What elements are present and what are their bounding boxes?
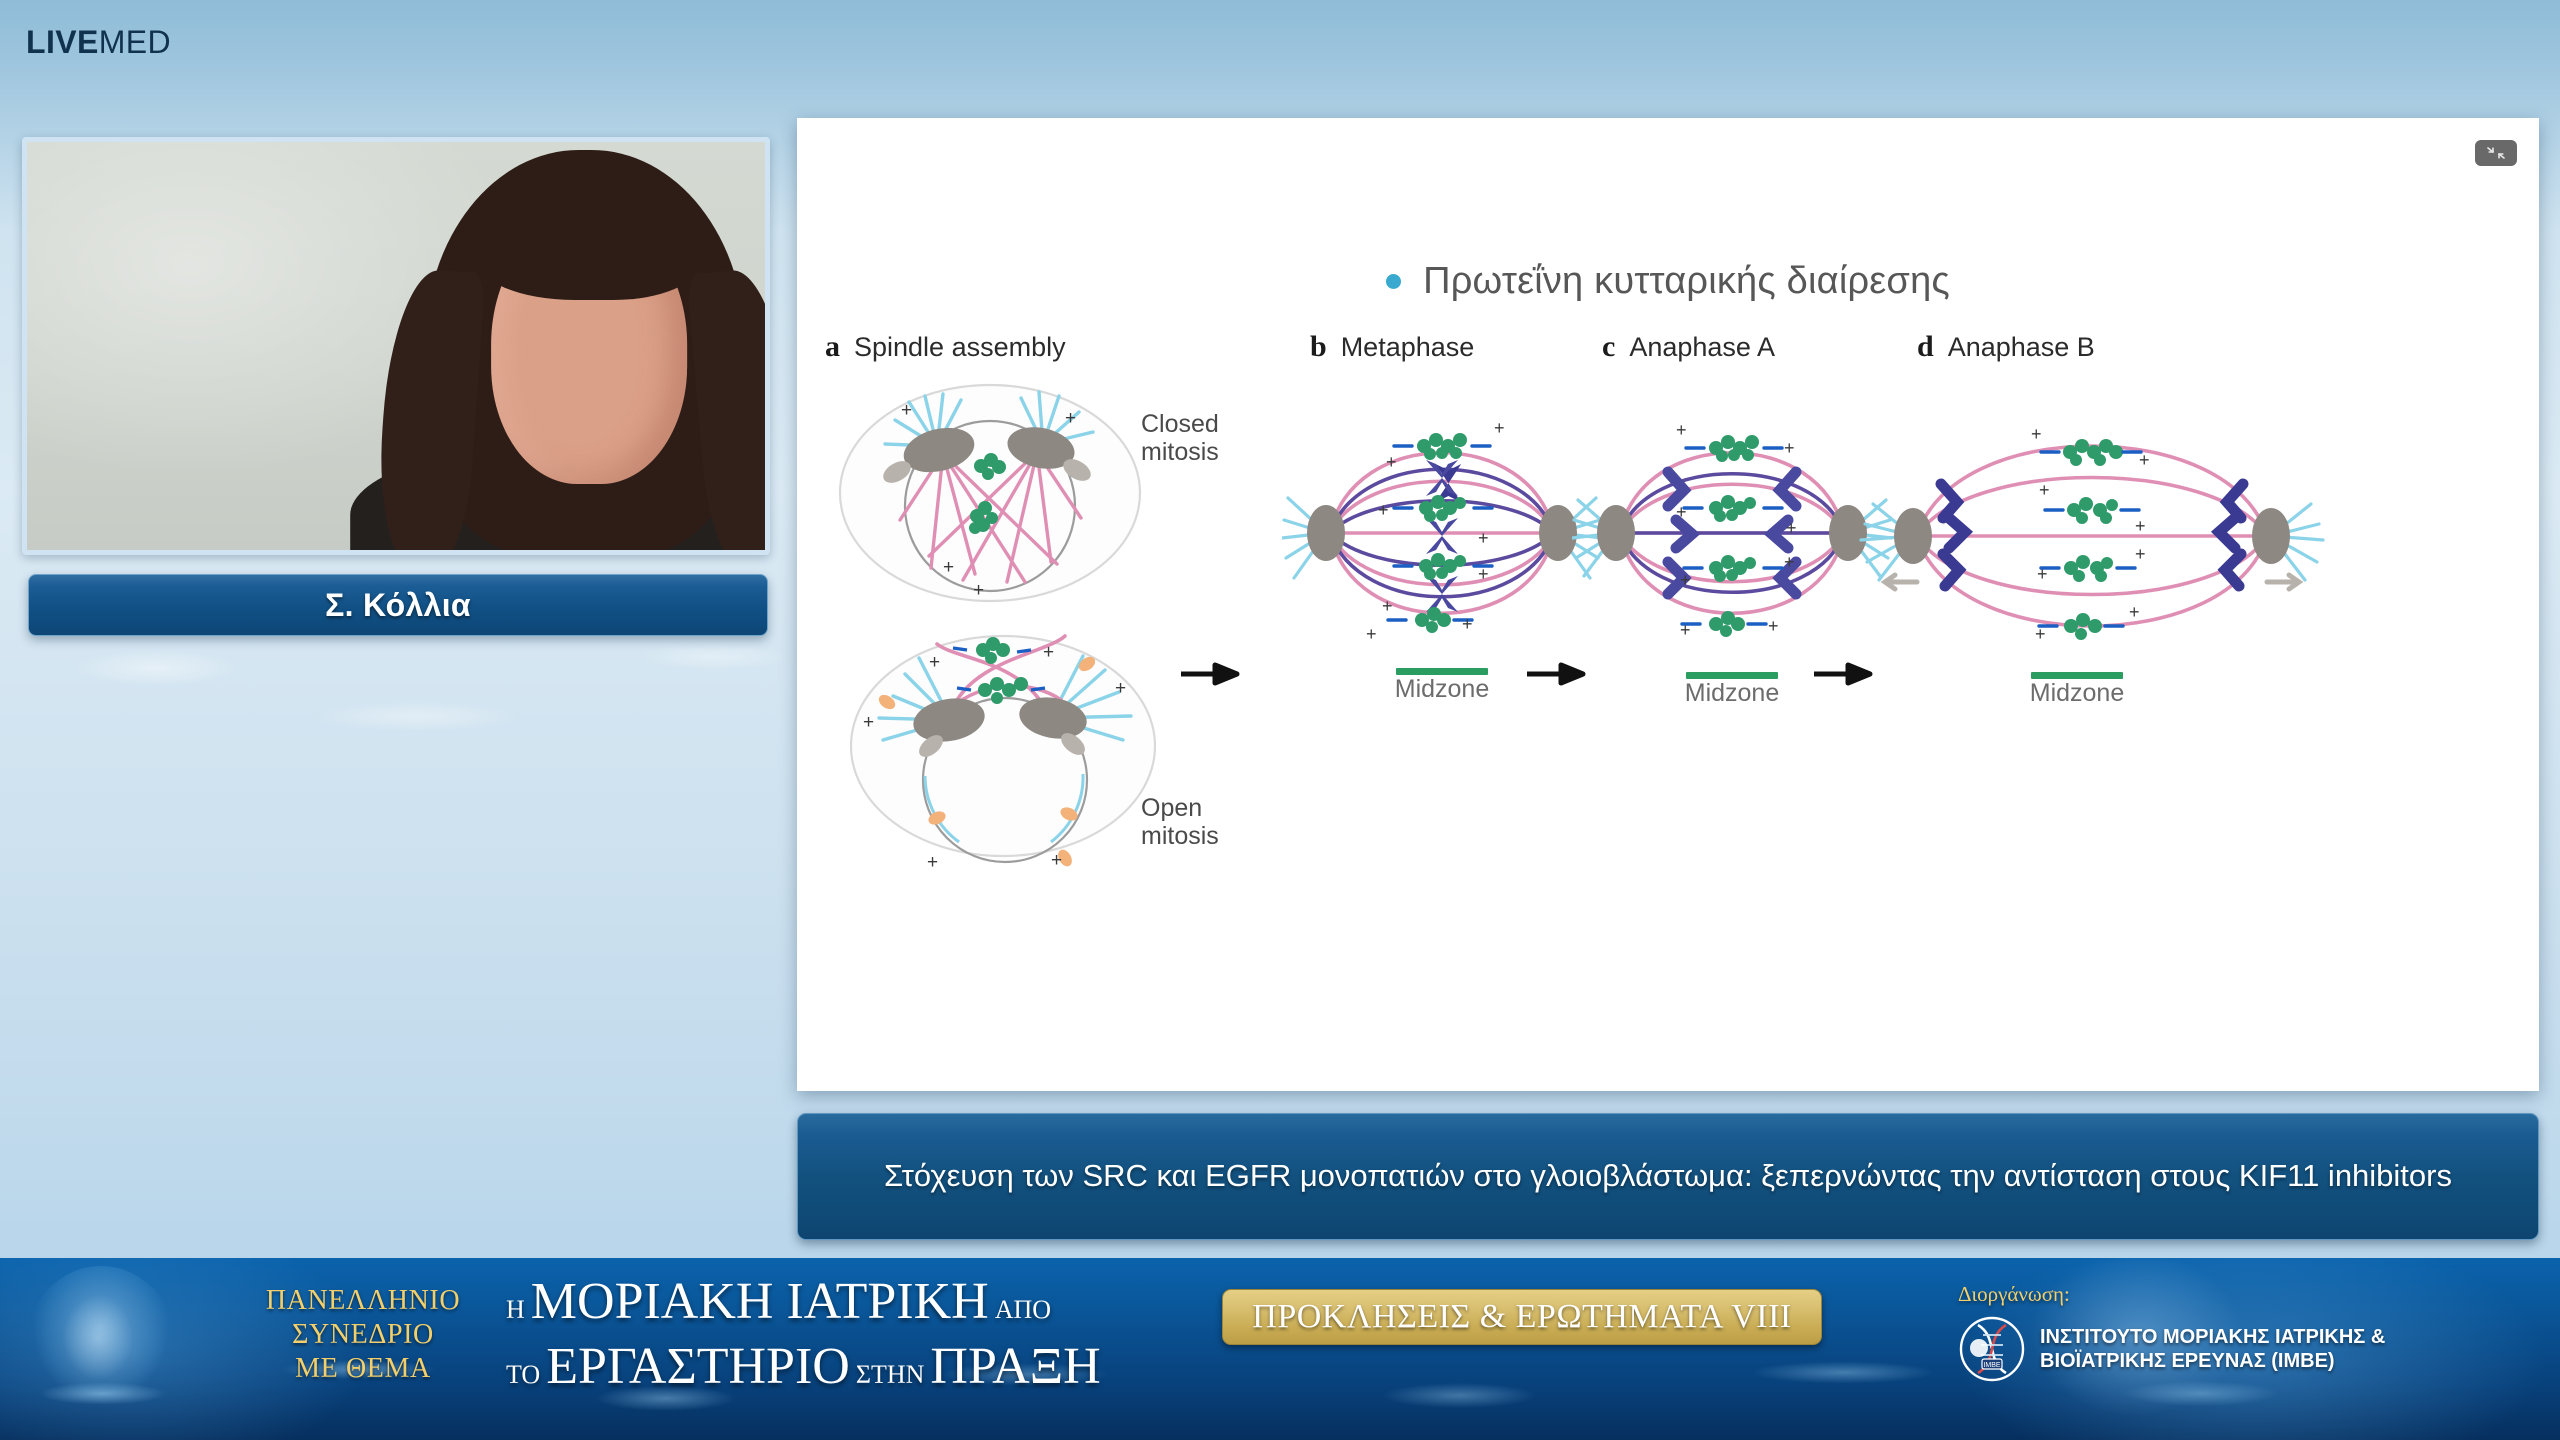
svg-text:+: + bbox=[1065, 408, 1076, 429]
svg-text:+: + bbox=[1676, 420, 1687, 440]
speaker-fringe bbox=[475, 204, 699, 300]
caption-line-1: Στόχευση των SRC και EGFR μονοπατιών στο… bbox=[884, 1158, 2230, 1193]
banner-main-title: Η ΜΟΡΙΑΚΗ ΙΑΤΡΙΚΗ ΑΠΟ ΤΟ ΕΡΓΑΣΤΗΡΙΟ ΣΤΗΝ… bbox=[500, 1272, 1200, 1396]
panel-a-art: ++ ++ Closed mitosis bbox=[825, 368, 1245, 883]
conference-edition-badge: ΠΡΟΚΛΗΣΕΙΣ & ΕΡΩΤΗΜΑΤΑ VIII bbox=[1222, 1289, 1822, 1345]
panel-d-midzone: Midzone bbox=[1917, 672, 2237, 706]
svg-text:Closed: Closed bbox=[1141, 410, 1219, 438]
conference-edition-text: ΠΡΟΚΛΗΣΕΙΣ & ΕΡΩΤΗΜΑΤΑ VIII bbox=[1252, 1298, 1791, 1336]
banner-l2-big-a: ΕΡΓΑΣΤΗΡΙΟ bbox=[546, 1337, 850, 1396]
speaker-name-plate: Σ. Κόλλια bbox=[28, 574, 768, 636]
svg-text:+: + bbox=[2135, 516, 2146, 536]
svg-text:+: + bbox=[2139, 450, 2150, 470]
banner-left-line-2: ΣΥΝΕΔΡΙΟ bbox=[248, 1318, 478, 1352]
svg-text:+: + bbox=[1680, 570, 1691, 590]
svg-text:+: + bbox=[943, 557, 954, 578]
banner-l1-small-a: Η bbox=[500, 1295, 531, 1325]
hippocrates-bust-icon bbox=[26, 1266, 176, 1426]
svg-text:+: + bbox=[1768, 616, 1779, 636]
svg-text:+: + bbox=[929, 652, 940, 673]
svg-text:+: + bbox=[2135, 544, 2146, 564]
presentation-title-bar: Στόχευση των SRC και EGFR μονοπατιών στο… bbox=[797, 1113, 2539, 1240]
panel-a-name: Spindle assembly bbox=[854, 332, 1066, 363]
svg-text:+: + bbox=[1462, 614, 1473, 634]
svg-text:+: + bbox=[863, 712, 874, 733]
svg-text:+: + bbox=[1786, 518, 1797, 538]
svg-text:+: + bbox=[1494, 418, 1505, 438]
banner-l1-small-b: ΑΠΟ bbox=[989, 1295, 1057, 1325]
figure-panel-c: c Anaphase A bbox=[1572, 330, 1902, 364]
slide-title-text: Πρωτεΐνη κυτταρικής διαίρεσης bbox=[1423, 260, 1950, 303]
svg-text:+: + bbox=[1378, 500, 1389, 520]
svg-text:+: + bbox=[901, 400, 912, 421]
panel-d-name: Anaphase B bbox=[1948, 332, 2095, 363]
organizer-block: Διοργάνωση: IMBE ΙΝΣΤΙΤΟΥΤΟ ΜΟΡΙΑΚΗΣ ΙΑΤ… bbox=[1958, 1282, 2478, 1383]
imbe-logo-icon: IMBE bbox=[1958, 1315, 2026, 1383]
banner-l2-big-b: ΠΡΑΞΗ bbox=[930, 1337, 1100, 1396]
speaker-name: Σ. Κόλλια bbox=[325, 587, 471, 624]
midzone-bar-icon bbox=[1686, 672, 1778, 679]
banner-title-line-1: Η ΜΟΡΙΑΚΗ ΙΑΤΡΙΚΗ ΑΠΟ bbox=[500, 1272, 1200, 1331]
mitosis-figure: a Spindle assembly bbox=[817, 330, 2519, 890]
speaker-video-tile[interactable] bbox=[22, 137, 770, 555]
panel-b-name: Metaphase bbox=[1341, 332, 1475, 363]
livemed-logo: LIVEMED bbox=[26, 26, 171, 58]
banner-l2-small-a: ΤΟ bbox=[500, 1360, 546, 1390]
banner-left-heading: ΠΑΝΕΛΛΗΝΙΟ ΣΥΝΕΔΡΙΟ ΜΕ ΘΕΜΑ bbox=[248, 1284, 478, 1386]
svg-text:+: + bbox=[1478, 528, 1489, 548]
svg-text:+: + bbox=[1784, 438, 1795, 458]
exit-fullscreen-icon[interactable] bbox=[2475, 140, 2517, 166]
figure-panel-b: b Metaphase bbox=[1282, 330, 1612, 364]
panel-d-midzone-text: Midzone bbox=[1917, 681, 2237, 706]
panel-b-header: b Metaphase bbox=[1310, 330, 1612, 364]
bullet-dot-icon bbox=[1386, 274, 1401, 289]
panel-a-letter: a bbox=[825, 330, 840, 364]
brand-light: MED bbox=[99, 24, 171, 60]
svg-text:+: + bbox=[1478, 564, 1489, 584]
svg-text:+: + bbox=[1043, 642, 1054, 663]
panel-d-header: d Anaphase B bbox=[1917, 330, 2327, 364]
panel-c-letter: c bbox=[1602, 330, 1615, 364]
svg-text:+: + bbox=[2037, 564, 2048, 584]
brand-strong: LIVE bbox=[26, 24, 99, 60]
speaker-video-feed bbox=[27, 142, 765, 550]
svg-text:+: + bbox=[2129, 602, 2140, 622]
slide-title: Πρωτεΐνη κυτταρικής διαίρεσης bbox=[797, 260, 2539, 303]
figure-panel-d: d Anaphase B bbox=[1857, 330, 2327, 364]
svg-text:+: + bbox=[2035, 624, 2046, 644]
panel-d-art: ++ ++ ++ ++ bbox=[1857, 368, 2327, 703]
midzone-bar-icon bbox=[1396, 668, 1488, 675]
panel-d-letter: d bbox=[1917, 330, 1934, 364]
svg-text:+: + bbox=[2031, 424, 2042, 444]
svg-text:+: + bbox=[1366, 624, 1377, 644]
banner-left-line-3: ΜΕ ΘΕΜΑ bbox=[248, 1352, 478, 1386]
svg-text:+: + bbox=[1115, 678, 1126, 699]
figure-panel-a: a Spindle assembly bbox=[825, 330, 1255, 364]
svg-text:Open: Open bbox=[1141, 794, 1202, 822]
banner-left-line-1: ΠΑΝΕΛΛΗΝΙΟ bbox=[248, 1284, 478, 1318]
slide-panel: Πρωτεΐνη κυτταρικής διαίρεσης a Spindle … bbox=[797, 118, 2539, 1091]
panel-b-art: ++ ++ ++ ++ bbox=[1282, 368, 1602, 703]
svg-text:+: + bbox=[927, 852, 938, 873]
caption-line-2: KIF11 inhibitors bbox=[2239, 1158, 2452, 1193]
panel-a-header: a Spindle assembly bbox=[825, 330, 1255, 364]
panel-b-letter: b bbox=[1310, 330, 1327, 364]
presentation-title-text: Στόχευση των SRC και EGFR μονοπατιών στο… bbox=[884, 1156, 2452, 1197]
svg-text:+: + bbox=[1051, 850, 1062, 871]
banner-l2-small-b: ΣΤΗΝ bbox=[850, 1360, 931, 1390]
banner-l1-big: ΜΟΡΙΑΚΗ ΙΑΤΡΙΚΗ bbox=[531, 1272, 989, 1331]
speaker-portrait bbox=[370, 142, 770, 550]
svg-text:+: + bbox=[1386, 452, 1397, 472]
organizer-name: ΙΝΣΤΙΤΟΥΤΟ ΜΟΡΙΑΚΗΣ ΙΑΤΡΙΚΗΣ & ΒΙΟΪΑΤΡΙΚ… bbox=[2040, 1325, 2478, 1374]
banner-title-line-2: ΤΟ ΕΡΓΑΣΤΗΡΙΟ ΣΤΗΝ ΠΡΑΞΗ bbox=[500, 1337, 1200, 1396]
panel-c-art: ++ ++ ++ ++ bbox=[1572, 368, 1892, 703]
svg-text:+: + bbox=[2039, 480, 2050, 500]
svg-text:+: + bbox=[1382, 596, 1393, 616]
svg-text:IMBE: IMBE bbox=[1983, 1362, 2000, 1369]
panel-c-name: Anaphase A bbox=[1629, 332, 1775, 363]
svg-text:mitosis: mitosis bbox=[1141, 822, 1219, 850]
svg-text:mitosis: mitosis bbox=[1141, 438, 1219, 466]
svg-text:+: + bbox=[1784, 552, 1795, 572]
flow-arrow-1 bbox=[1179, 660, 1241, 688]
svg-text:+: + bbox=[973, 580, 984, 601]
svg-text:+: + bbox=[1676, 502, 1687, 522]
organizer-kicker: Διοργάνωση: bbox=[1958, 1282, 2478, 1307]
midzone-bar-icon bbox=[2031, 672, 2123, 679]
organizer-row: IMBE ΙΝΣΤΙΤΟΥΤΟ ΜΟΡΙΑΚΗΣ ΙΑΤΡΙΚΗΣ & ΒΙΟΪ… bbox=[1958, 1315, 2478, 1383]
svg-text:+: + bbox=[1680, 620, 1691, 640]
